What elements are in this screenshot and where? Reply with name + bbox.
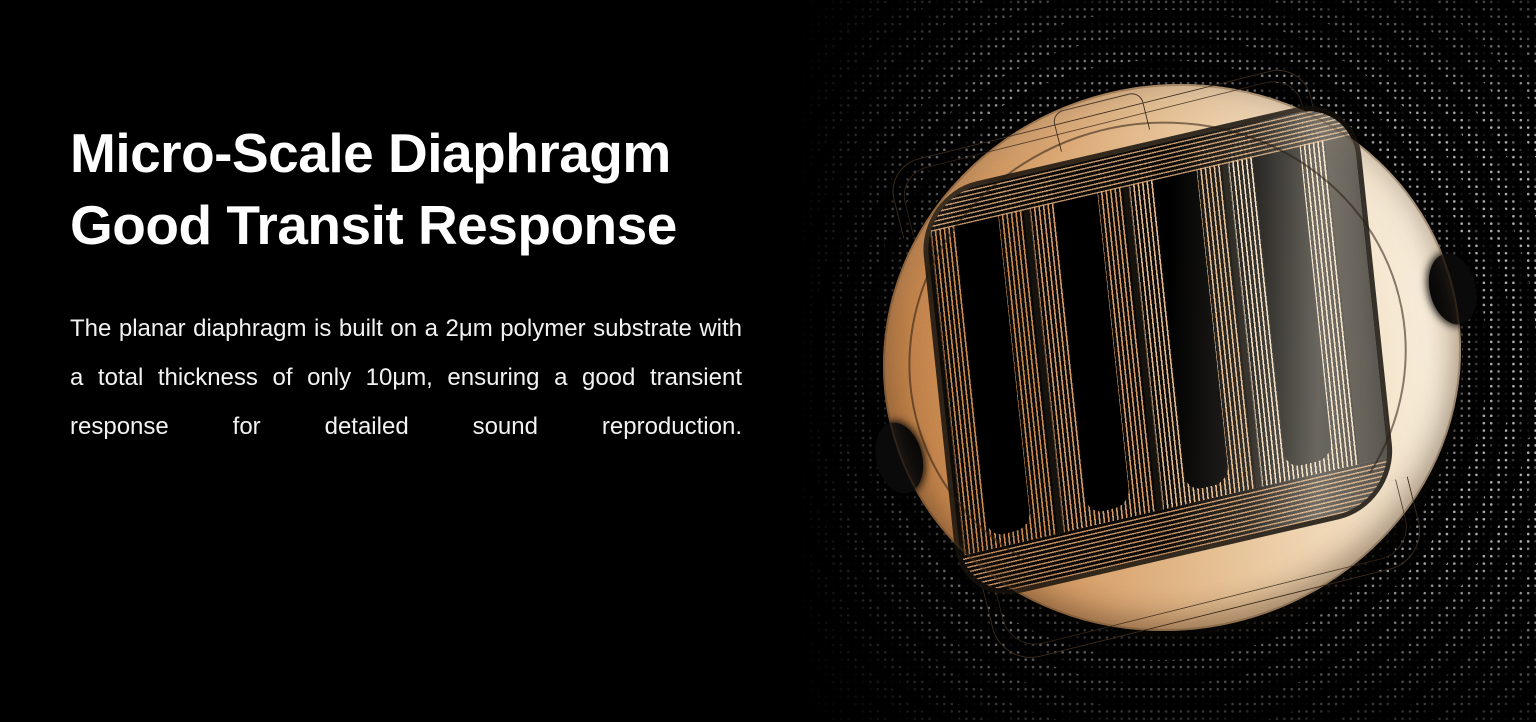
slide-root: Micro-Scale Diaphragm Good Transit Respo…: [0, 0, 1536, 722]
page-title: Micro-Scale Diaphragm Good Transit Respo…: [70, 118, 742, 261]
product-image-panel: [742, 0, 1536, 722]
body-paragraph: The planar diaphragm is built on a 2μm p…: [70, 304, 742, 500]
copy-column: Micro-Scale Diaphragm Good Transit Respo…: [70, 118, 742, 500]
